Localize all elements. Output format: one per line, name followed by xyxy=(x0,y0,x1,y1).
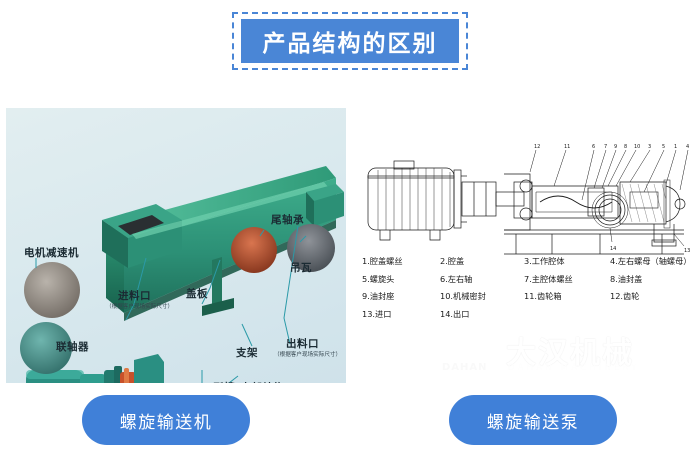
page-title-frame: 产品结构的区别 xyxy=(232,12,468,70)
part-item: 3.工作腔体 xyxy=(524,257,610,266)
svg-text:14: 14 xyxy=(610,246,616,252)
screw-pump-panel: 12 11 6 7 9 8 10 3 5 1 4 14 13 1.腔盖螺丝 2.… xyxy=(354,108,694,383)
part-item xyxy=(610,310,692,319)
svg-text:8: 8 xyxy=(624,144,627,150)
parts-row: 9.油封座 10.机械密封 11.齿轮箱 12.齿轮 xyxy=(362,292,692,301)
label-u-trough: U型槽(内部结构) xyxy=(204,380,290,383)
watermark-en: DAHAN MACHINERY xyxy=(508,363,640,373)
screw-conveyor-button[interactable]: 螺旋输送机 xyxy=(82,395,250,445)
svg-text:13: 13 xyxy=(684,248,690,254)
part-item: 11.齿轮箱 xyxy=(524,292,610,301)
label-coupling: 联轴器 xyxy=(56,339,89,354)
label-hanger-bearing: 吊瓦 xyxy=(290,260,312,275)
part-item: 14.出口 xyxy=(440,310,524,319)
svg-text:7: 7 xyxy=(604,144,607,150)
screw-conveyor-panel: 电机减速机 进料口 （根据客户现场实际尺寸） 盖板 尾轴承 吊瓦 支架 出料口 … xyxy=(6,108,346,383)
label-feed-inlet: 进料口 xyxy=(118,288,151,303)
part-item: 8.油封盖 xyxy=(610,275,692,284)
screw-pump-button-label: 螺旋输送泵 xyxy=(487,408,580,433)
screw-conveyor-button-label: 螺旋输送机 xyxy=(120,408,213,433)
parts-row: 5.螺旋头 6.左右轴 7.主腔体螺丝 8.油封盖 xyxy=(362,275,692,284)
svg-text:5: 5 xyxy=(662,144,665,150)
screw-pump-button[interactable]: 螺旋输送泵 xyxy=(449,395,617,445)
parts-row: 13.进口 14.出口 xyxy=(362,310,692,319)
svg-text:6: 6 xyxy=(592,144,595,150)
page-title-banner: 产品结构的区别 xyxy=(241,19,459,63)
part-item: 12.齿轮 xyxy=(610,292,692,301)
watermark: 大汉机械 DAHAN DAHAN MACHINERY xyxy=(440,330,690,380)
parts-row: 1.腔盖螺丝 2.腔盖 3.工作腔体 4.左右螺母（轴螺母） xyxy=(362,257,692,266)
part-item: 10.机械密封 xyxy=(440,292,524,301)
part-item: 13.进口 xyxy=(362,310,440,319)
dahan-logo-icon xyxy=(440,328,500,374)
svg-text:10: 10 xyxy=(634,144,640,150)
part-item: 7.主腔体螺丝 xyxy=(524,275,610,284)
svg-text:9: 9 xyxy=(614,144,617,150)
part-item xyxy=(524,310,610,319)
svg-text:3: 3 xyxy=(648,144,651,150)
parts-list: 1.腔盖螺丝 2.腔盖 3.工作腔体 4.左右螺母（轴螺母） 5.螺旋头 6.左… xyxy=(362,257,692,327)
page-title: 产品结构的区别 xyxy=(263,24,438,58)
label-discharge-outlet: 出料口 xyxy=(286,336,319,351)
label-feed-inlet-note: （根据客户现场实际尺寸） xyxy=(106,302,173,310)
label-support: 支架 xyxy=(236,345,258,360)
watermark-cn: 大汉机械 xyxy=(506,328,634,372)
svg-text:1: 1 xyxy=(674,144,677,150)
part-item: 6.左右轴 xyxy=(440,275,524,284)
label-motor-reducer: 电机减速机 xyxy=(24,245,79,260)
watermark-brand: DAHAN xyxy=(442,362,488,373)
part-item: 2.腔盖 xyxy=(440,257,524,266)
label-cover-plate: 盖板 xyxy=(186,286,208,301)
part-item: 1.腔盖螺丝 xyxy=(362,257,440,266)
part-item: 9.油封座 xyxy=(362,292,440,301)
part-item: 4.左右螺母（轴螺母） xyxy=(610,257,692,266)
part-item: 5.螺旋头 xyxy=(362,275,440,284)
label-tail-bearing: 尾轴承 xyxy=(271,212,304,227)
svg-text:4: 4 xyxy=(686,144,689,150)
svg-text:11: 11 xyxy=(564,144,570,150)
label-discharge-outlet-note: （根据客户现场实际尺寸） xyxy=(274,350,341,358)
svg-text:12: 12 xyxy=(534,144,540,150)
